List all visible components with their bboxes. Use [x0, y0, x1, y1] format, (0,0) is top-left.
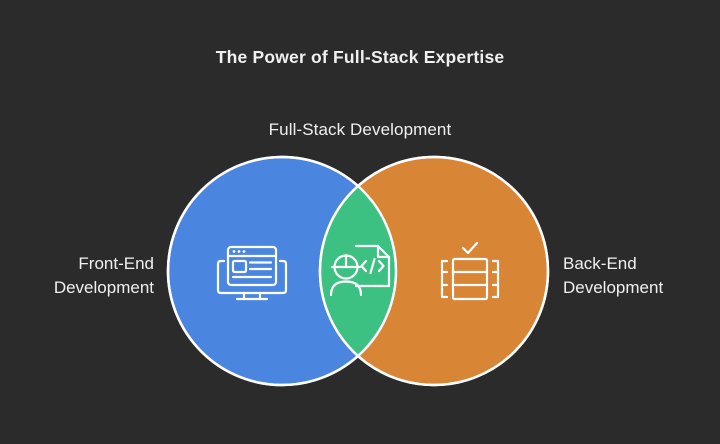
diagram-canvas: The Power of Full-Stack Expertise Full-S…	[0, 0, 720, 444]
venn-diagram	[0, 0, 720, 444]
